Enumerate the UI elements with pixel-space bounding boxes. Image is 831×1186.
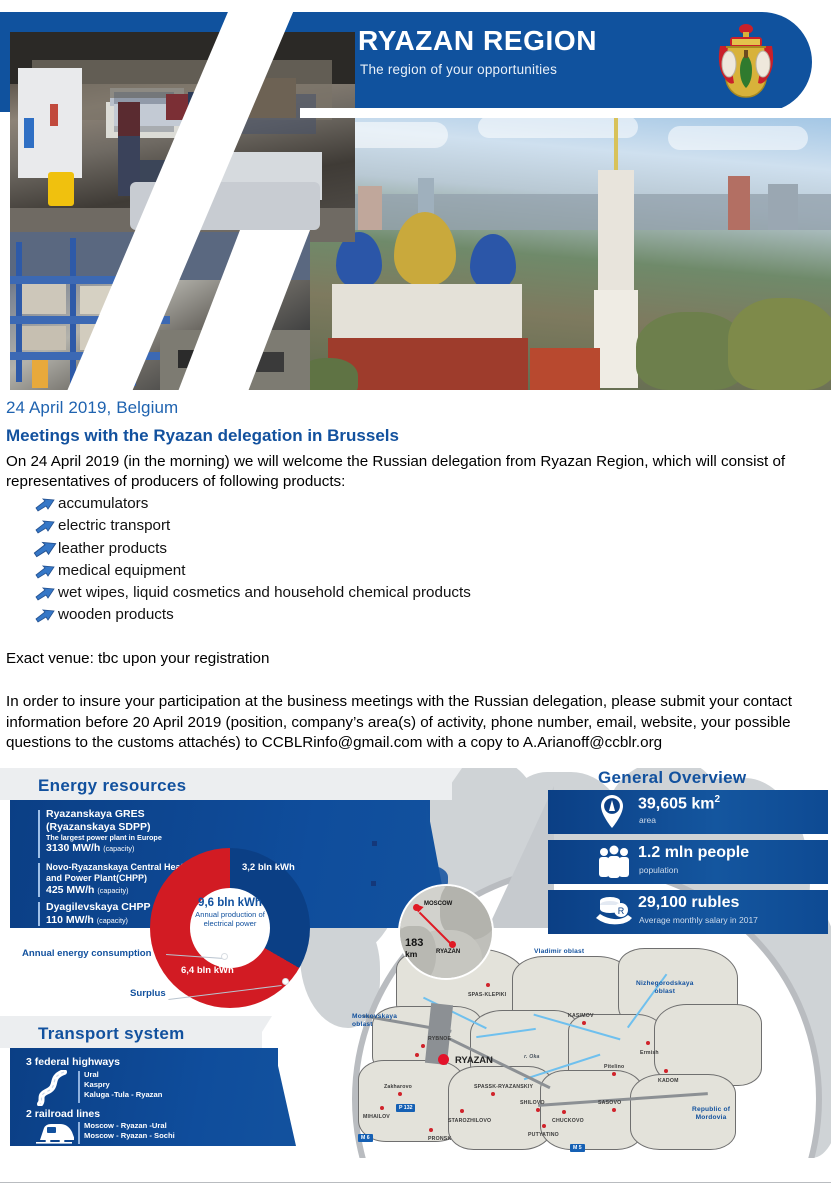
map-label-kadom: KADOM [658, 1078, 679, 1084]
map-label-putyatino: PUTYATINO [528, 1132, 559, 1138]
list-item: wooden products [6, 604, 706, 626]
map-label-moskovskaya-oblast: Moskovskayaoblast [352, 1013, 397, 1029]
map-dot [612, 1072, 616, 1076]
map-label-shilovo: SHILOVO [520, 1100, 545, 1106]
donut-center-label: 9,6 bln kWh Annual production of electri… [150, 896, 310, 929]
arrow-bullet-icon [34, 586, 56, 600]
map-dot [415, 1053, 419, 1057]
article-intro: On 24 April 2019 (in the morning) we wil… [6, 452, 826, 492]
list-item: medical equipment [6, 560, 706, 582]
map-label-kasimov: KASIMOV [568, 1013, 594, 1019]
map-dot [664, 1069, 668, 1073]
leader-dot [221, 953, 228, 960]
arrow-bullet-icon [34, 497, 56, 511]
map-label-spassk-ryazanskiy: SPASSK-RYAZANSKIY [474, 1084, 533, 1090]
highway-list: Ural Kaspry Kaluga -Tula - Ryazan [84, 1070, 162, 1100]
map-label-pitelino: Pitelino [604, 1064, 624, 1070]
map-label-starozhilovo: STAROZHILOVO [448, 1118, 491, 1124]
ryazan-oblast-map [372, 948, 802, 1158]
donut-consumption-value: 6,4 bln kWh [181, 965, 234, 976]
list-item: accumulators [6, 493, 706, 515]
map-dot-moscow [372, 841, 377, 846]
map-label-chuckovo: CHUCKOVO [552, 1118, 584, 1124]
arrow-bullet-icon [34, 608, 56, 622]
map-label-sasovo: SASOVO [598, 1100, 621, 1106]
map-dot [380, 1106, 384, 1110]
arrow-bullet-icon [32, 541, 58, 558]
map-dot [542, 1124, 546, 1128]
registration-instructions: In order to insure your participation at… [6, 692, 830, 754]
map-label-capital-ryazan: RYAZAN [455, 1054, 493, 1065]
map-dot [429, 1128, 433, 1132]
transport-system-title: Transport system [38, 1024, 185, 1044]
map-dot-capital [438, 1054, 449, 1065]
overview-caption-salary: Average monthly salary in 2017 [639, 915, 758, 925]
list-item-label: accumulators [58, 495, 148, 512]
general-overview-title: General Overview [598, 768, 746, 788]
map-dot [562, 1110, 566, 1114]
map-label-pronsk: PRONSK [428, 1136, 451, 1142]
map-label-rybnoe: RYBNOE [428, 1036, 451, 1042]
map-label-ermish: Ermish [640, 1050, 659, 1056]
map-dot [460, 1109, 464, 1113]
inset-distance-value: 183 km [405, 938, 423, 960]
donut-label-consumption: Annual energy consumption [22, 948, 152, 959]
list-item: wet wipes, liquid cosmetics and househol… [6, 582, 706, 604]
list-item: leather products [6, 538, 706, 560]
energy-resources-title: Energy resources [38, 776, 186, 796]
map-dot [612, 1108, 616, 1112]
article-headline: Meetings with the Ryazan delegation in B… [6, 426, 399, 446]
railroad-lines-heading: 2 railroad lines [26, 1108, 100, 1120]
map-label-zakharovo: Zakharovo [384, 1084, 412, 1090]
photo-ryazan-kremlin [298, 112, 831, 390]
money-hand-icon: R [594, 894, 634, 933]
product-list: accumulators electric transport leather … [6, 493, 706, 627]
arrow-bullet-icon [34, 564, 56, 578]
list-item-label: electric transport [58, 517, 170, 534]
inset-label-moscow: MOSCOW [424, 901, 452, 907]
road-shield-m5: M 5 [570, 1144, 585, 1152]
people-icon [596, 844, 632, 885]
highway-icon [34, 1070, 74, 1111]
footer-divider [0, 1182, 831, 1183]
newsletter-page: RYAZAN REGION The region of your opportu… [0, 0, 831, 1186]
venue-note: Exact venue: tbc upon your registration [6, 650, 269, 667]
list-item-label: wooden products [58, 606, 174, 623]
coat-of-arms-icon [712, 22, 780, 102]
map-label-spas-klepiki: SPAS-KLEPIKI [468, 992, 506, 998]
power-plant-3: Dyagilevskaya CHPP 110 MW/h (capacity) [46, 901, 150, 926]
distance-inset-map [398, 884, 494, 980]
map-dot [536, 1108, 540, 1112]
map-label-republic-of-mordovia: Republic ofMordovia [692, 1106, 730, 1122]
overview-value-population: 1.2 mln people [638, 844, 749, 862]
map-dot [646, 1041, 650, 1045]
map-dot [582, 1021, 586, 1025]
road-shield-m6: M 6 [358, 1134, 373, 1142]
overview-value-area: 39,605 km2 [638, 794, 720, 813]
map-dot [398, 1092, 402, 1096]
railroad-list: Moscow - Ryazan -Ural Moscow - Ryazan - … [84, 1121, 175, 1141]
event-date-location: 24 April 2019, Belgium [6, 398, 178, 418]
map-label-nizhegorodskaya-oblast: Nizhegorodskayaoblast [636, 980, 694, 996]
map-dot [491, 1092, 495, 1096]
map-dot-ryazan [371, 881, 376, 886]
list-item-label: leather products [58, 540, 167, 557]
page-subtitle: The region of your opportunities [360, 62, 557, 77]
overview-caption-area: area [639, 815, 656, 825]
location-pin-icon [598, 794, 626, 835]
donut-surplus-value: 3,2 bln kWh [242, 862, 295, 873]
power-plant-1: Ryazanskaya GRES (Ryazanskaya SDPP) The … [46, 808, 162, 854]
overview-caption-population: population [639, 865, 678, 875]
page-title: RYAZAN REGION [358, 27, 597, 55]
donut-label-surplus: Surplus [130, 988, 166, 999]
hero-header: RYAZAN REGION The region of your opportu… [0, 0, 831, 392]
inset-label-ryazan: RYAZAN [436, 949, 460, 955]
list-item: electric transport [6, 515, 706, 537]
map-label-mihailov: MIHAILOV [363, 1114, 390, 1120]
list-item-label: medical equipment [58, 562, 185, 579]
arrow-bullet-icon [34, 519, 56, 533]
leader-dot [282, 978, 289, 985]
map-label-oka-river: r. Oka [524, 1054, 540, 1060]
map-dot [421, 1044, 425, 1048]
federal-highways-heading: 3 federal highways [26, 1056, 120, 1068]
map-dot [486, 983, 490, 987]
map-label-vladimir-oblast: Vladimir oblast [534, 948, 584, 955]
overview-wedge [488, 786, 554, 928]
list-item-label: wet wipes, liquid cosmetics and househol… [58, 584, 471, 601]
train-icon [34, 1122, 74, 1149]
svg-text:R: R [618, 906, 625, 916]
overview-value-salary: 29,100 rubles [638, 894, 739, 912]
road-shield-p132: P 132 [396, 1104, 415, 1112]
